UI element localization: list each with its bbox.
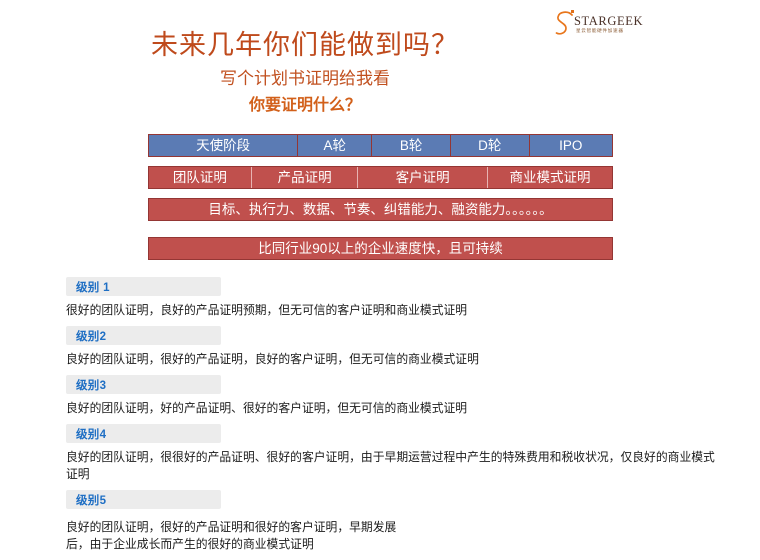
stage-segment-4: D轮 — [450, 135, 529, 156]
level-tag-1: 级别 1 — [66, 277, 221, 296]
level-block: 级别 1很好的团队证明，良好的产品证明预期，但无可信的客户证明和商业模式证明 — [66, 277, 746, 319]
stage-segment-2: A轮 — [297, 135, 371, 156]
level-description-1: 很好的团队证明，良好的产品证明预期，但无可信的客户证明和商业模式证明 — [66, 302, 726, 319]
page-question: 你要证明什么？ — [0, 91, 760, 115]
level-description-5: 良好的团队证明，很好的产品证明和很好的客户证明，早期发展后，由于企业成长而产生的… — [66, 519, 726, 553]
funding-stage-row: 天使阶段A轮B轮D轮IPO — [148, 134, 613, 157]
capability-row: 目标、执行力、数据、节奏、纠错能力、融资能力。。。。。。 — [148, 198, 613, 221]
page-subtitle: 写个计划书证明给我看 — [0, 64, 760, 89]
logo-accent-dot — [571, 10, 574, 13]
level-description-3: 良好的团队证明，好的产品证明、很好的客户证明，但无可信的商业模式证明 — [66, 400, 726, 417]
levels-list: 级别 1很好的团队证明，良好的产品证明预期，但无可信的客户证明和商业模式证明级别… — [66, 277, 746, 560]
level-tag-3: 级别3 — [66, 375, 221, 394]
level-tag-4: 级别4 — [66, 424, 221, 443]
speed-label: 比同行业90以上的企业速度快，且可持续 — [149, 238, 612, 259]
level-tag-label: 级别3 — [76, 377, 106, 393]
level-tag-label: 级别5 — [76, 492, 106, 508]
level-tag-label: 级别2 — [76, 328, 106, 344]
proof-segment-1: 团队证明 — [149, 167, 251, 188]
level-description-4: 良好的团队证明，很很好的产品证明、很好的客户证明，由于早期运营过程中产生的特殊费… — [66, 449, 726, 483]
stage-segment-3: B轮 — [371, 135, 450, 156]
proof-segment-2: 产品证明 — [251, 167, 357, 188]
level-block: 级别5良好的团队证明，很好的产品证明和很好的客户证明，早期发展后，由于企业成长而… — [66, 490, 746, 553]
proof-diagram: 天使阶段A轮B轮D轮IPO 团队证明产品证明客户证明商业模式证明 目标、执行力、… — [148, 134, 613, 269]
capability-label: 目标、执行力、数据、节奏、纠错能力、融资能力。。。。。。 — [149, 199, 612, 220]
level-tag-label: 级别 1 — [76, 279, 110, 295]
level-block: 级别4良好的团队证明，很很好的产品证明、很好的客户证明，由于早期运营过程中产生的… — [66, 424, 746, 483]
level-tag-2: 级别2 — [66, 326, 221, 345]
page-title: 未来几年你们能做到吗？ — [0, 23, 760, 62]
level-block: 级别3良好的团队证明，好的产品证明、很好的客户证明，但无可信的商业模式证明 — [66, 375, 746, 417]
level-description-2: 良好的团队证明，很好的产品证明，良好的客户证明，但无可信的商业模式证明 — [66, 351, 726, 368]
speed-row: 比同行业90以上的企业速度快，且可持续 — [148, 237, 613, 260]
stage-segment-5: IPO — [529, 135, 612, 156]
stage-segment-1: 天使阶段 — [149, 135, 297, 156]
proof-segment-3: 客户证明 — [357, 167, 487, 188]
level-tag-5: 级别5 — [66, 490, 221, 509]
proof-type-row: 团队证明产品证明客户证明商业模式证明 — [148, 166, 613, 189]
level-tag-label: 级别4 — [76, 426, 106, 442]
proof-segment-4: 商业模式证明 — [487, 167, 612, 188]
level-block: 级别2良好的团队证明，很好的产品证明，良好的客户证明，但无可信的商业模式证明 — [66, 326, 746, 368]
